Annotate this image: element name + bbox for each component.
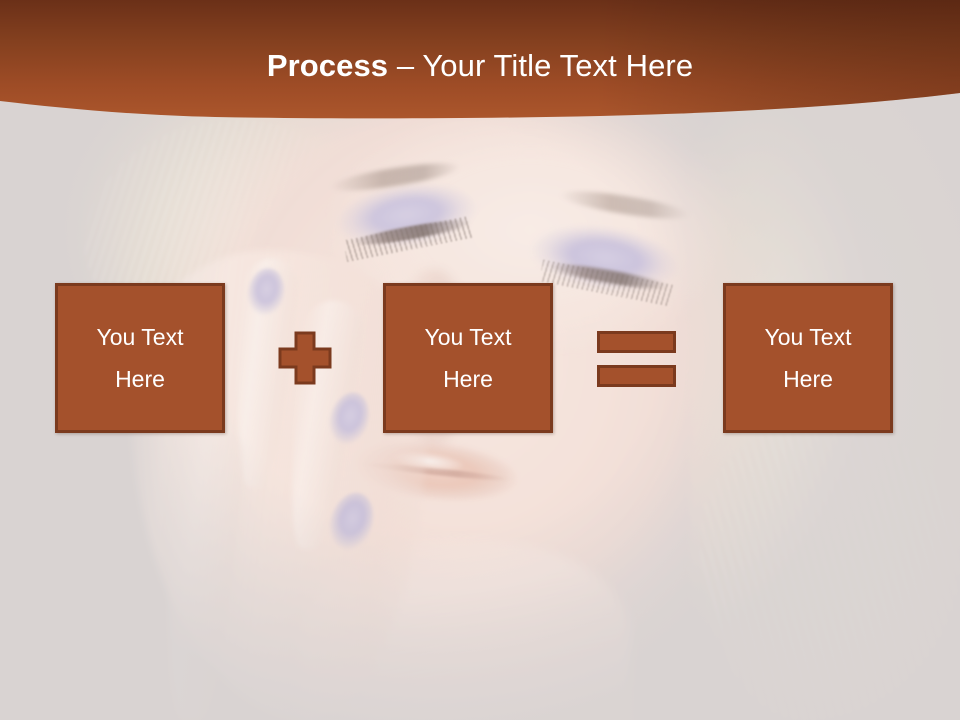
equals-bar-top (597, 331, 676, 353)
process-box-1[interactable]: You Text Here (55, 283, 225, 433)
equals-icon (597, 331, 676, 387)
process-box-2[interactable]: You Text Here (383, 283, 553, 433)
process-box-1-label: You Text Here (97, 316, 184, 400)
process-box-3-label: You Text Here (765, 316, 852, 400)
process-box-3[interactable]: You Text Here (723, 283, 893, 433)
slide-canvas: Process – Your Title Text Here You Text … (0, 0, 960, 720)
plus-icon (277, 330, 333, 386)
process-diagram: You Text Here You Text Here You Text Her… (0, 0, 960, 720)
process-box-2-label: You Text Here (425, 316, 512, 400)
equals-bar-bottom (597, 365, 676, 387)
